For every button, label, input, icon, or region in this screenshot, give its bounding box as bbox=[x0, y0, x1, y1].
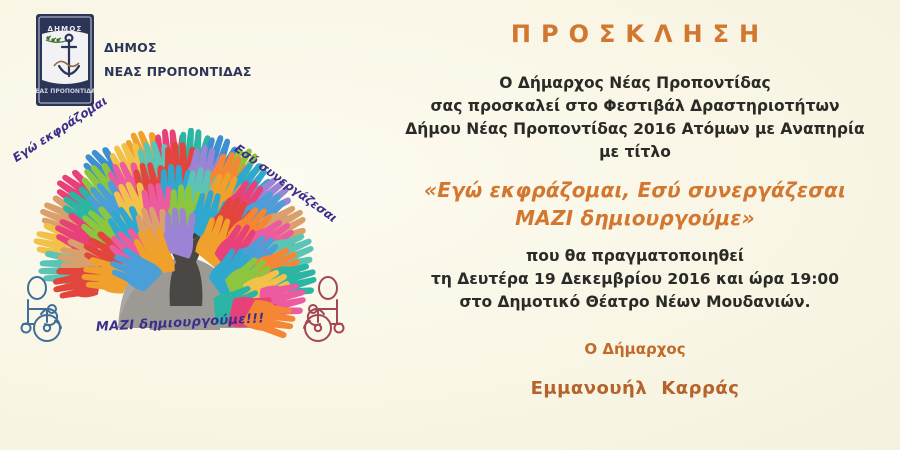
municipality-crest-icon: ΔΗΜΟΣ ΝΕΑΣ ΠΡΟΠΟΝΤΙΔΑΣ bbox=[36, 14, 94, 106]
mayor-first-name: Εμμανουήλ bbox=[531, 378, 648, 399]
intro-line: Ο Δήμαρχος Νέας Προποντίδας bbox=[370, 72, 900, 95]
intro-line: Δήμου Νέας Προποντίδας 2016 Ατόμων με Αν… bbox=[370, 118, 900, 141]
wheelchair-figure-left bbox=[22, 277, 62, 341]
mayor-label: Ο Δήμαρχος bbox=[370, 340, 900, 358]
event-detail-line: τη Δευτέρα 19 Δεκεμβρίου 2016 και ώρα 19… bbox=[370, 268, 900, 291]
event-detail-line: που θα πραγματοποιηθεί bbox=[370, 245, 900, 268]
intro-line: σας προσκαλεί στο Φεστιβάλ Δραστηριοτήτω… bbox=[370, 95, 900, 118]
crest-bottom-label: ΝΕΑΣ ΠΡΟΠΟΝΤΙΔΑΣ bbox=[36, 88, 94, 95]
handprint-tree-illustration: Εγώ εκφράζομαι Εσύ συνεργάζεσαι ΜΑΖΙ δημ… bbox=[0, 128, 365, 358]
wheelchair-figure-right bbox=[304, 277, 344, 341]
festival-title: «Εγώ εκφράζομαι, Εσύ συνεργάζεσαι ΜΑΖΙ δ… bbox=[370, 176, 900, 232]
crest-top-label: ΔΗΜΟΣ bbox=[48, 25, 83, 33]
logo-line-2: ΝΕΑΣ ΠΡΟΠΟΝΤΙΔΑΣ bbox=[104, 60, 252, 84]
invitation-intro: Ο Δήμαρχος Νέας Προποντίδας σας προσκαλε… bbox=[370, 72, 900, 164]
intro-line: με τίτλο bbox=[370, 141, 900, 164]
festival-title-line: «Εγώ εκφράζομαι, Εσύ συνεργάζεσαι bbox=[370, 176, 900, 204]
logo-line-1: ΔΗΜΟΣ bbox=[104, 36, 252, 60]
left-column: ΔΗΜΟΣ ΝΕΑΣ ΠΡΟΠΟΝΤΙΔΑΣ ΔΗΜΟΣ ΝΕΑΣ ΠΡΟΠΟΝ… bbox=[0, 0, 370, 450]
municipality-logo-text: ΔΗΜΟΣ ΝΕΑΣ ΠΡΟΠΟΝΤΙΔΑΣ bbox=[104, 36, 252, 84]
event-details: που θα πραγματοποιηθεί τη Δευτέρα 19 Δεκ… bbox=[370, 245, 900, 314]
invitation-text-column: ΠΡΟΣΚΛΗΣΗ Ο Δήμαρχος Νέας Προποντίδας σα… bbox=[370, 0, 900, 450]
festival-title-line: ΜΑΖΙ δημιουργούμε» bbox=[370, 204, 900, 232]
page-title: ΠΡΟΣΚΛΗΣΗ bbox=[370, 20, 900, 48]
mayor-last-name: Καρράς bbox=[661, 378, 739, 399]
invitation-poster: ΔΗΜΟΣ ΝΕΑΣ ΠΡΟΠΟΝΤΙΔΑΣ ΔΗΜΟΣ ΝΕΑΣ ΠΡΟΠΟΝ… bbox=[0, 0, 900, 450]
municipality-logo: ΔΗΜΟΣ ΝΕΑΣ ΠΡΟΠΟΝΤΙΔΑΣ ΔΗΜΟΣ ΝΕΑΣ ΠΡΟΠΟΝ… bbox=[36, 14, 252, 106]
event-detail-line: στο Δημοτικό Θέατρο Νέων Μουδανιών. bbox=[370, 291, 900, 314]
mayor-name: ΕμμανουήλΚαρράς bbox=[370, 378, 900, 399]
